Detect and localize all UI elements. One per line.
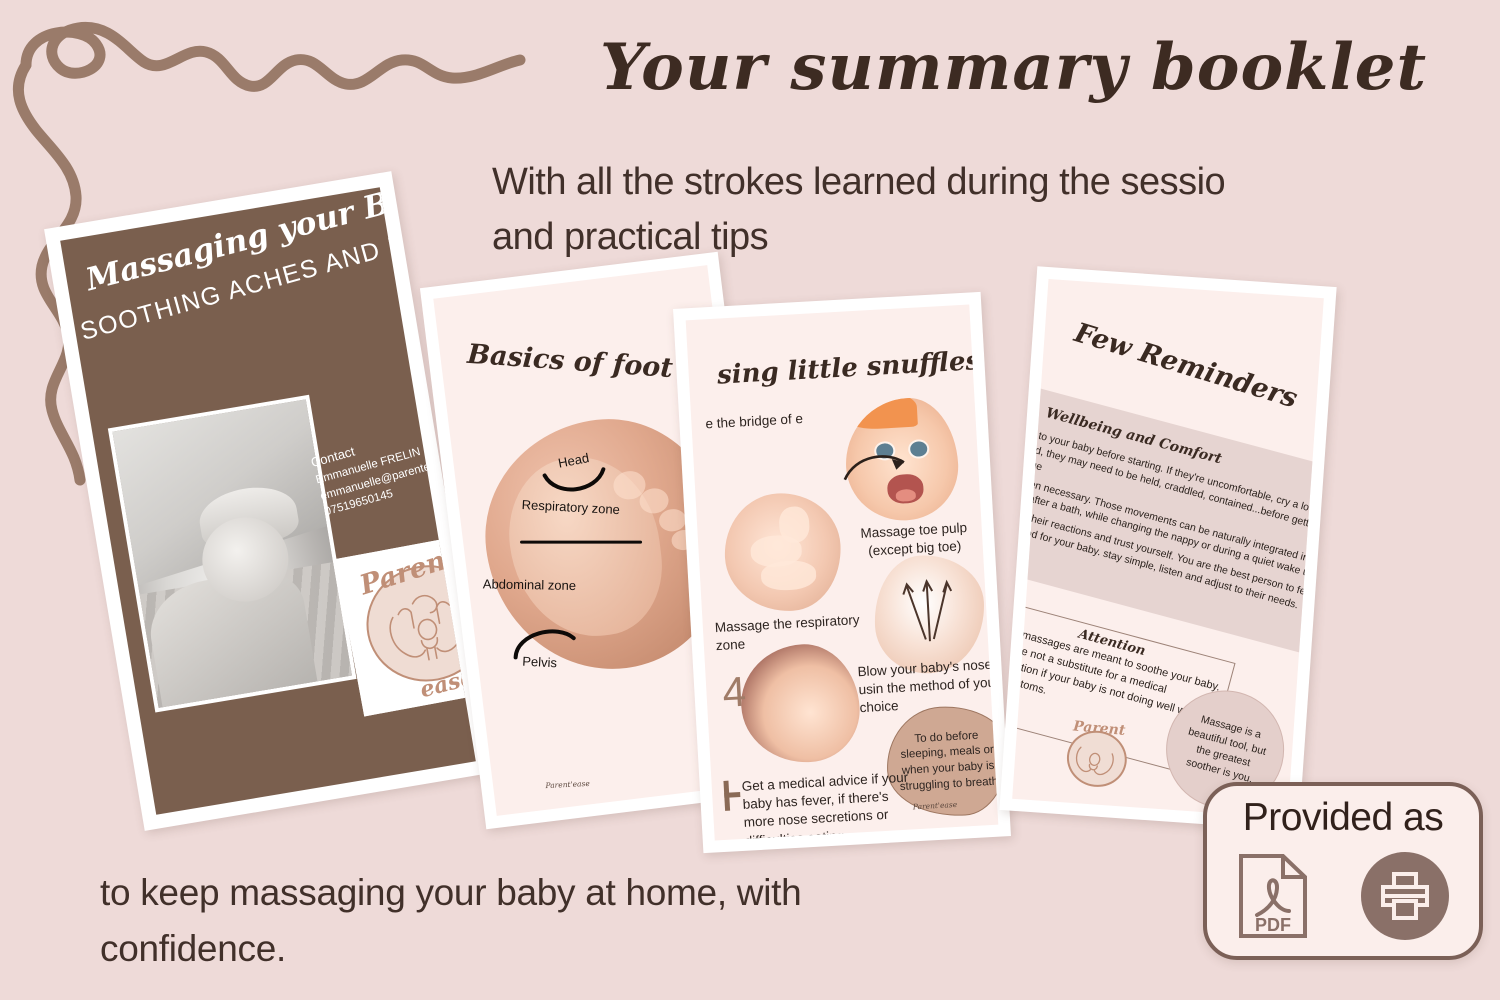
booklet-page-snuffles[interactable]: sing little snuffles e the bridge of e M… xyxy=(673,292,1011,853)
provided-as-badge[interactable]: Provided as PDF xyxy=(1203,782,1483,960)
cover-baby-photo xyxy=(108,395,357,713)
snuffles-title: sing little snuffles xyxy=(686,344,999,393)
snuffles-inner: sing little snuffles e the bridge of e M… xyxy=(686,304,999,840)
foot-toe xyxy=(658,507,687,533)
parent-holding-baby-icon xyxy=(1069,732,1121,782)
poster-canvas: Your summary booklet With all the stroke… xyxy=(0,0,1500,1000)
provided-as-label: Provided as xyxy=(1207,796,1479,840)
reminders-inner: Few Reminders Wellbeing and Comfort List… xyxy=(1012,279,1324,818)
subtitle-line-2: and practical tips xyxy=(492,210,1392,265)
footer-line-1: to keep massaging your baby at home, wit… xyxy=(100,865,1050,921)
subtitle-block: With all the strokes learned during the … xyxy=(492,155,1392,265)
printer-icon[interactable] xyxy=(1361,852,1449,940)
snuffles-step-1: e the bridge of e xyxy=(705,409,828,434)
respiratory-zone-arrow-icon xyxy=(897,578,961,649)
pdf-file-icon[interactable]: PDF xyxy=(1237,853,1309,939)
booklet-page-cover[interactable]: Massaging your Baby SOOTHING ACHES AND P… xyxy=(44,171,492,831)
baby-eye-right xyxy=(910,441,928,457)
hands-massage-photo xyxy=(722,490,844,614)
cover-inner: Massaging your Baby SOOTHING ACHES AND P… xyxy=(60,187,476,814)
step-number-4: 4 xyxy=(721,668,747,717)
booklet-page-reminders[interactable]: Few Reminders Wellbeing and Comfort List… xyxy=(999,266,1336,831)
nose-cleaning-photo xyxy=(738,641,862,765)
snuffles-step-5: Get a medical advice if your baby has fe… xyxy=(741,769,913,841)
bookmark-icon xyxy=(723,781,730,811)
zone-label-pelvis: Pelvis xyxy=(522,654,557,671)
zone-line-respiratory xyxy=(520,541,642,544)
reflexology-footer: Parent'ease xyxy=(545,779,590,790)
page-title: Your summary booklet xyxy=(600,30,1320,105)
footer-line-2: confidence. xyxy=(100,921,1050,977)
parentease-logo-small: Parent xyxy=(1055,716,1136,797)
subtitle-line-1: With all the strokes learned during the … xyxy=(492,155,1392,210)
hand-finger xyxy=(760,560,817,591)
zone-label-abdominal: Abdominal zone xyxy=(483,576,576,593)
pdf-label: PDF xyxy=(1255,915,1291,935)
footer-paragraph: to keep massaging your baby at home, wit… xyxy=(100,865,1050,976)
badge-icon-row: PDF xyxy=(1207,852,1479,940)
nose-bridge-arrow-icon xyxy=(841,448,913,488)
baby-hat xyxy=(842,395,917,431)
